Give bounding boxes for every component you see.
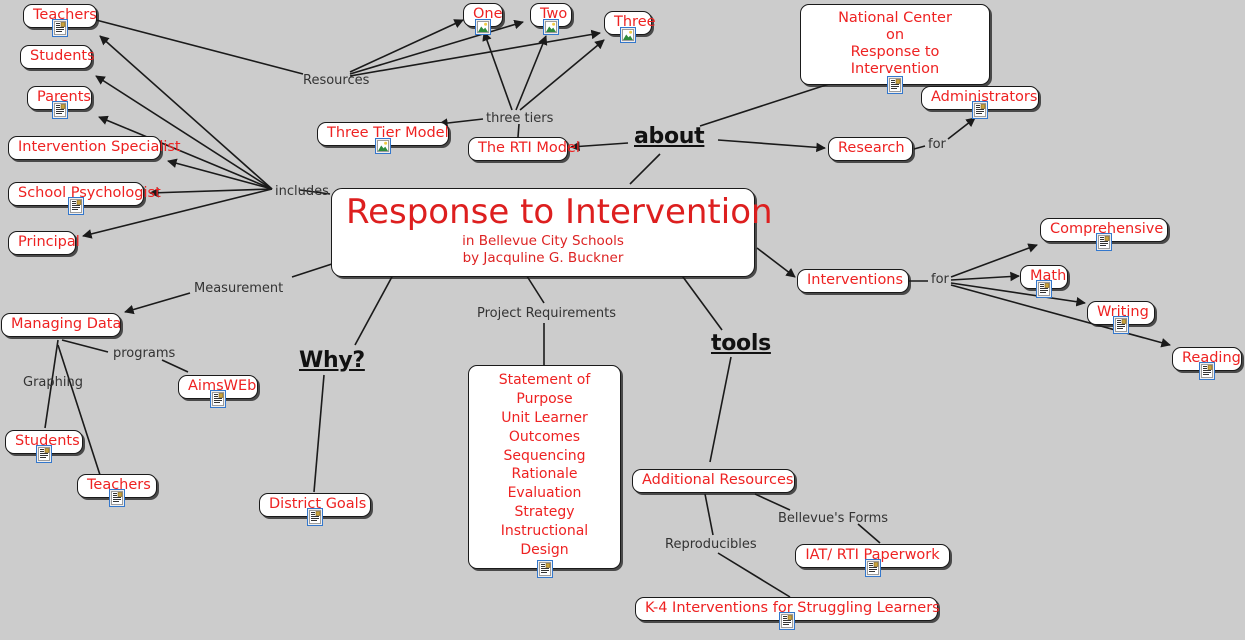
document-icon[interactable] [972,101,988,119]
node-school-psychologist[interactable]: School Psychologist [8,182,144,206]
document-icon[interactable] [779,612,795,630]
requirement-item-5: Instructional Design [481,522,608,560]
node-label: Interventions [807,272,899,289]
page-title: Response to Intervention [346,195,740,231]
node-administrators[interactable]: Administrators [921,86,1039,110]
node-label: Managing Data [11,316,111,333]
edge-layer [0,0,1245,640]
node-additional-resources[interactable]: Additional Resources [632,469,795,493]
edge-label-bellevues-forms: Bellevue's Forms [778,511,888,526]
node-math[interactable]: Math [1020,265,1068,289]
node-students-top[interactable]: Students [20,45,92,69]
image-icon[interactable] [543,18,559,36]
edge-label-for-interventions: for [931,272,949,287]
edge-label-resources: Resources [303,73,369,88]
node-label: Research [838,140,903,157]
edge-label-graphing: Graphing [23,375,83,390]
document-icon[interactable] [109,489,125,507]
node-project-requirements-list[interactable]: Statement of Purpose Unit Learner Outcom… [468,365,621,569]
node-teachers-top[interactable]: Teachers [23,4,97,28]
node-managing-data[interactable]: Managing Data [1,313,121,337]
node-principal[interactable]: Principal [8,231,76,255]
node-writing[interactable]: Writing [1087,301,1155,325]
node-label: Principal [18,234,66,251]
node-central-title[interactable]: Response to Intervention in Bellevue Cit… [331,188,755,277]
requirement-item-4: Evaluation Strategy [481,484,608,522]
node-label: Additional Resources [642,472,785,489]
node-three[interactable]: Three [604,11,652,35]
edge-label-includes: includes [275,184,329,199]
node-three-tier-model[interactable]: Three Tier Model [317,122,449,146]
node-label: Students [30,48,82,65]
document-icon[interactable] [210,390,226,408]
page-subtitle-1: in Bellevue City Schools [346,233,740,250]
node-label-line3: Response to Intervention [810,44,980,78]
requirement-item-2: Unit Learner Outcomes [481,409,608,447]
edge-label-measurement: Measurement [194,281,283,296]
requirement-item-1: Statement of Purpose [481,371,608,409]
document-icon[interactable] [537,560,553,578]
concept-map-canvas[interactable]: Resources includes three tiers about for… [0,0,1245,640]
node-students-graphing[interactable]: Students [5,430,83,454]
node-label-line1: National Center [810,10,980,27]
edge-label-tools: tools [711,331,771,356]
edge-label-about: about [634,124,704,149]
node-interventions[interactable]: Interventions [797,269,909,293]
node-parents[interactable]: Parents [27,86,92,110]
page-subtitle-2: by Jacquline G. Buckner [346,250,740,267]
edge-label-programs: programs [113,346,175,361]
edge-label-for-administrators: for [928,137,946,152]
document-icon[interactable] [1096,233,1112,251]
image-icon[interactable] [620,26,636,44]
node-label: The RTI Model [478,140,558,157]
node-rti-model[interactable]: The RTI Model [468,137,568,161]
node-reading[interactable]: Reading [1172,347,1242,371]
image-icon[interactable] [475,18,491,36]
document-icon[interactable] [1199,362,1215,380]
document-icon[interactable] [52,19,68,37]
document-icon[interactable] [68,197,84,215]
document-icon[interactable] [307,508,323,526]
document-icon[interactable] [887,76,903,94]
document-icon[interactable] [865,559,881,577]
document-icon[interactable] [52,101,68,119]
image-icon[interactable] [375,137,391,155]
edge-label-three-tiers: three tiers [486,111,553,126]
node-two[interactable]: Two [530,3,572,27]
node-iat-rti-paperwork[interactable]: IAT/ RTI Paperwork [795,544,950,568]
edge-label-reproducibles: Reproducibles [665,537,757,552]
node-k4-interventions[interactable]: K-4 Interventions for Struggling Learner… [635,597,938,621]
node-comprehensive[interactable]: Comprehensive [1040,218,1168,242]
document-icon[interactable] [1113,316,1129,334]
document-icon[interactable] [36,445,52,463]
node-national-center[interactable]: National Center on Response to Intervent… [800,4,990,85]
node-one[interactable]: One [463,3,503,27]
node-research[interactable]: Research [828,137,913,161]
node-intervention-specialist[interactable]: Intervention Specialist [8,136,161,160]
node-teachers-graphing[interactable]: Teachers [77,474,157,498]
node-district-goals[interactable]: District Goals [259,493,371,517]
node-aimsweb[interactable]: AimsWEb [178,375,258,399]
requirement-item-3: Sequencing Rationale [481,447,608,485]
node-label-line2: on [810,27,980,44]
node-label: Intervention Specialist [18,139,151,156]
edge-label-why: Why? [299,348,365,373]
document-icon[interactable] [1036,280,1052,298]
edge-label-project-requirements: Project Requirements [477,306,616,321]
